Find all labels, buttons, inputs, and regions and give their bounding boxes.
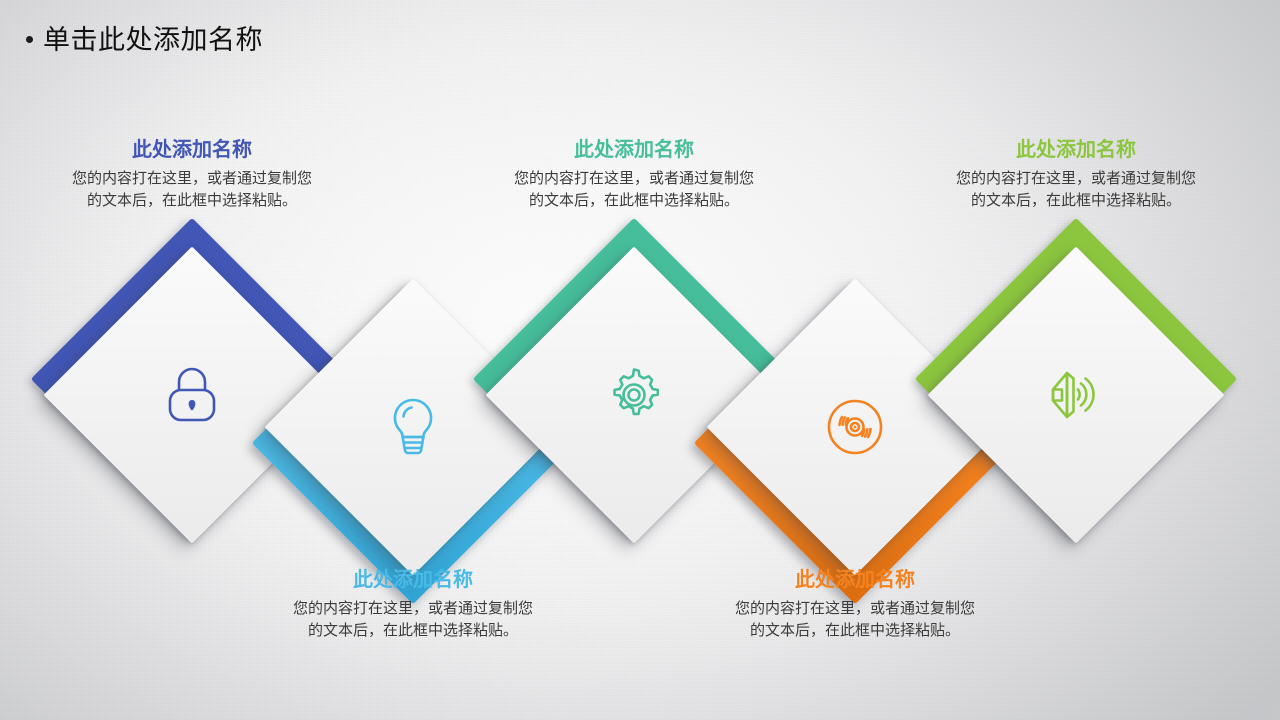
diamond-card-5[interactable] (928, 247, 1225, 544)
diamond-chain (0, 0, 1280, 720)
diamond-node-4[interactable] (741, 313, 969, 541)
text-heading-1: 此处添加名称 (66, 138, 318, 161)
gear-icon (529, 290, 739, 500)
text-heading-4: 此处添加名称 (729, 568, 981, 591)
text-heading-3: 此处添加名称 (508, 138, 760, 161)
text-body-2: 您的内容打在这里，或者通过复制您的文本后，在此框中选择粘贴。 (287, 598, 539, 642)
page-title: 单击此处添加名称 (43, 18, 263, 57)
vinyl-record-icon (750, 322, 960, 532)
text-body-1: 您的内容打在这里，或者通过复制您的文本后，在此框中选择粘贴。 (66, 168, 318, 212)
text-block-5[interactable]: 此处添加名称您的内容打在这里，或者通过复制您的文本后，在此框中选择粘贴。 (950, 138, 1202, 212)
text-heading-5: 此处添加名称 (950, 138, 1202, 161)
text-body-5: 您的内容打在这里，或者通过复制您的文本后，在此框中选择粘贴。 (950, 168, 1202, 212)
text-body-4: 您的内容打在这里，或者通过复制您的文本后，在此框中选择粘贴。 (729, 598, 981, 642)
text-block-4[interactable]: 此处添加名称您的内容打在这里，或者通过复制您的文本后，在此框中选择粘贴。 (729, 568, 981, 642)
lightbulb-icon (308, 322, 518, 532)
diamond-node-5[interactable] (962, 281, 1190, 509)
text-block-3[interactable]: 此处添加名称您的内容打在这里，或者通过复制您的文本后，在此框中选择粘贴。 (508, 138, 760, 212)
diamond-node-1[interactable] (78, 281, 306, 509)
text-block-1[interactable]: 此处添加名称您的内容打在这里，或者通过复制您的文本后，在此框中选择粘贴。 (66, 138, 318, 212)
diamond-node-2[interactable] (299, 313, 527, 541)
text-body-3: 您的内容打在这里，或者通过复制您的文本后，在此框中选择粘贴。 (508, 168, 760, 212)
bullet-icon (26, 36, 33, 43)
diamond-node-3[interactable] (520, 281, 748, 509)
slide-title[interactable]: 单击此处添加名称 (26, 18, 263, 57)
text-block-2[interactable]: 此处添加名称您的内容打在这里，或者通过复制您的文本后，在此框中选择粘贴。 (287, 568, 539, 642)
speaker-icon (971, 290, 1181, 500)
text-heading-2: 此处添加名称 (287, 568, 539, 591)
lock-icon (87, 290, 297, 500)
